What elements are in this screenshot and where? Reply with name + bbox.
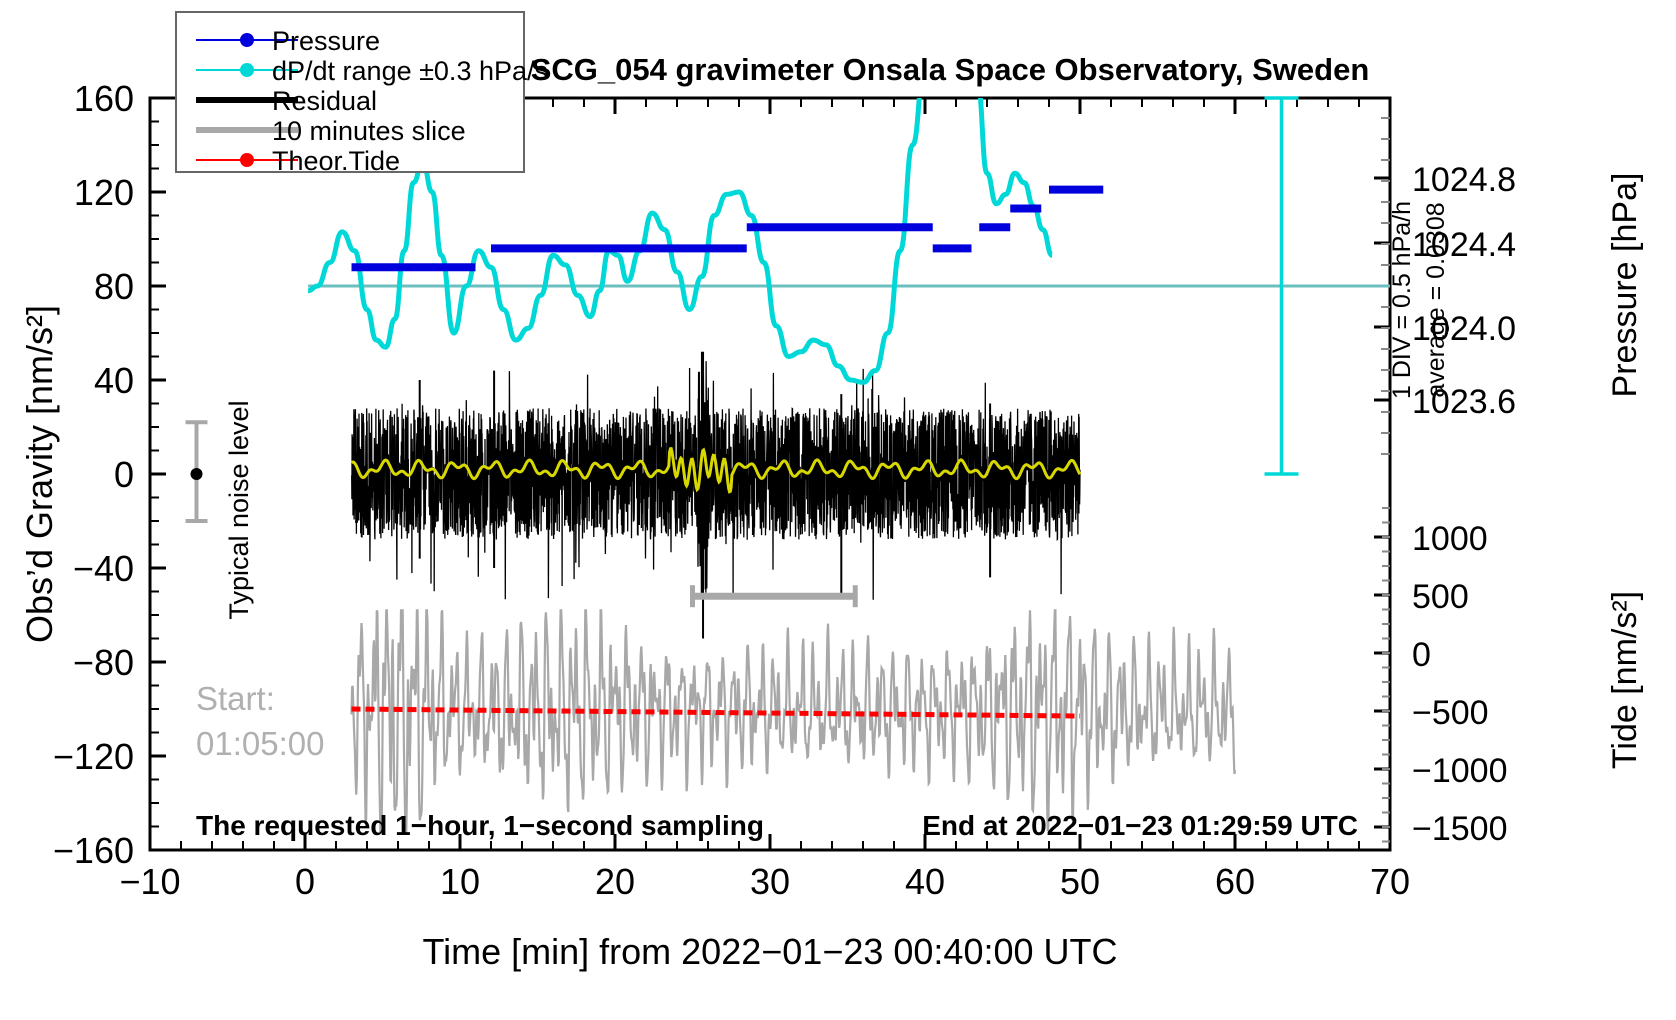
x-axis-label: Time [min] from 2022−01−23 00:40:00 UTC bbox=[422, 931, 1117, 972]
x-tick-label: 10 bbox=[440, 861, 480, 902]
y-tick-label-pressure: 1024.8 bbox=[1412, 161, 1516, 199]
y-tick-label-left: 40 bbox=[94, 360, 134, 401]
y-tick-label-tide: 500 bbox=[1412, 578, 1469, 616]
x-tick-label: 0 bbox=[295, 861, 315, 902]
y-tick-label-tide: 1000 bbox=[1412, 520, 1488, 558]
x-tick-label: 40 bbox=[905, 861, 945, 902]
x-tick-label: 20 bbox=[595, 861, 635, 902]
chart-root: −1001020304050607016012080400−40−80−120−… bbox=[0, 0, 1676, 1020]
average-note: average = 0.0308 bbox=[1422, 202, 1450, 397]
page-title: SCG_054 gravimeter Onsala Space Observat… bbox=[531, 52, 1370, 87]
div-scale-note: 1 DIV = 0.5 hPa/h bbox=[1388, 201, 1416, 399]
legend-item-label: Theor.Tide bbox=[272, 146, 400, 176]
sampling-note: The requested 1−hour, 1−second sampling bbox=[196, 810, 764, 841]
y-tick-label-left: 80 bbox=[94, 266, 134, 307]
y-tick-label-left: 120 bbox=[74, 172, 134, 213]
y-tick-label-left: −80 bbox=[73, 642, 134, 683]
x-tick-label: 30 bbox=[750, 861, 790, 902]
start-time: 01:05:00 bbox=[196, 725, 324, 762]
end-time-note: End at 2022−01−23 01:29:59 UTC bbox=[922, 810, 1358, 841]
y-tick-label-left: −160 bbox=[53, 830, 134, 871]
y-axis-label-left: Obs’d Gravity [nm/s²] bbox=[19, 305, 60, 643]
x-tick-label: 70 bbox=[1370, 861, 1410, 902]
noise-level-label: Typical noise level bbox=[224, 400, 254, 619]
pressure-step-trace bbox=[352, 190, 1104, 268]
y-tick-label-left: 0 bbox=[114, 454, 134, 495]
y-tick-label-tide: −1000 bbox=[1412, 752, 1508, 790]
y-tick-label-left: −40 bbox=[73, 548, 134, 589]
y-tick-label-left: 160 bbox=[74, 78, 134, 119]
legend-item-label: Pressure bbox=[272, 26, 380, 56]
y-tick-label-left: −120 bbox=[53, 736, 134, 777]
y-tick-label-tide: 0 bbox=[1412, 636, 1431, 674]
legend-item-label: dP/dt range ±0.3 hPa/s bbox=[272, 56, 548, 86]
ten-minutes-slice-trace bbox=[352, 610, 1236, 831]
y-tick-label-tide: −1500 bbox=[1412, 810, 1508, 848]
x-tick-label: 60 bbox=[1215, 861, 1255, 902]
legend-item-label: 10 minutes slice bbox=[272, 116, 466, 146]
x-tick-label: 50 bbox=[1060, 861, 1100, 902]
legend: PressuredP/dt range ±0.3 hPa/sResidual10… bbox=[176, 12, 548, 176]
y-axis-label-right-tide: Tide [nm/s²] bbox=[1606, 591, 1644, 769]
start-label: Start: bbox=[196, 680, 275, 717]
y-tick-label-tide: −500 bbox=[1412, 694, 1489, 732]
gravimeter-plot: −1001020304050607016012080400−40−80−120−… bbox=[0, 0, 1676, 1020]
y-axis-label-right-pressure: Pressure [hPa] bbox=[1606, 173, 1644, 398]
legend-item-label: Residual bbox=[272, 86, 377, 116]
